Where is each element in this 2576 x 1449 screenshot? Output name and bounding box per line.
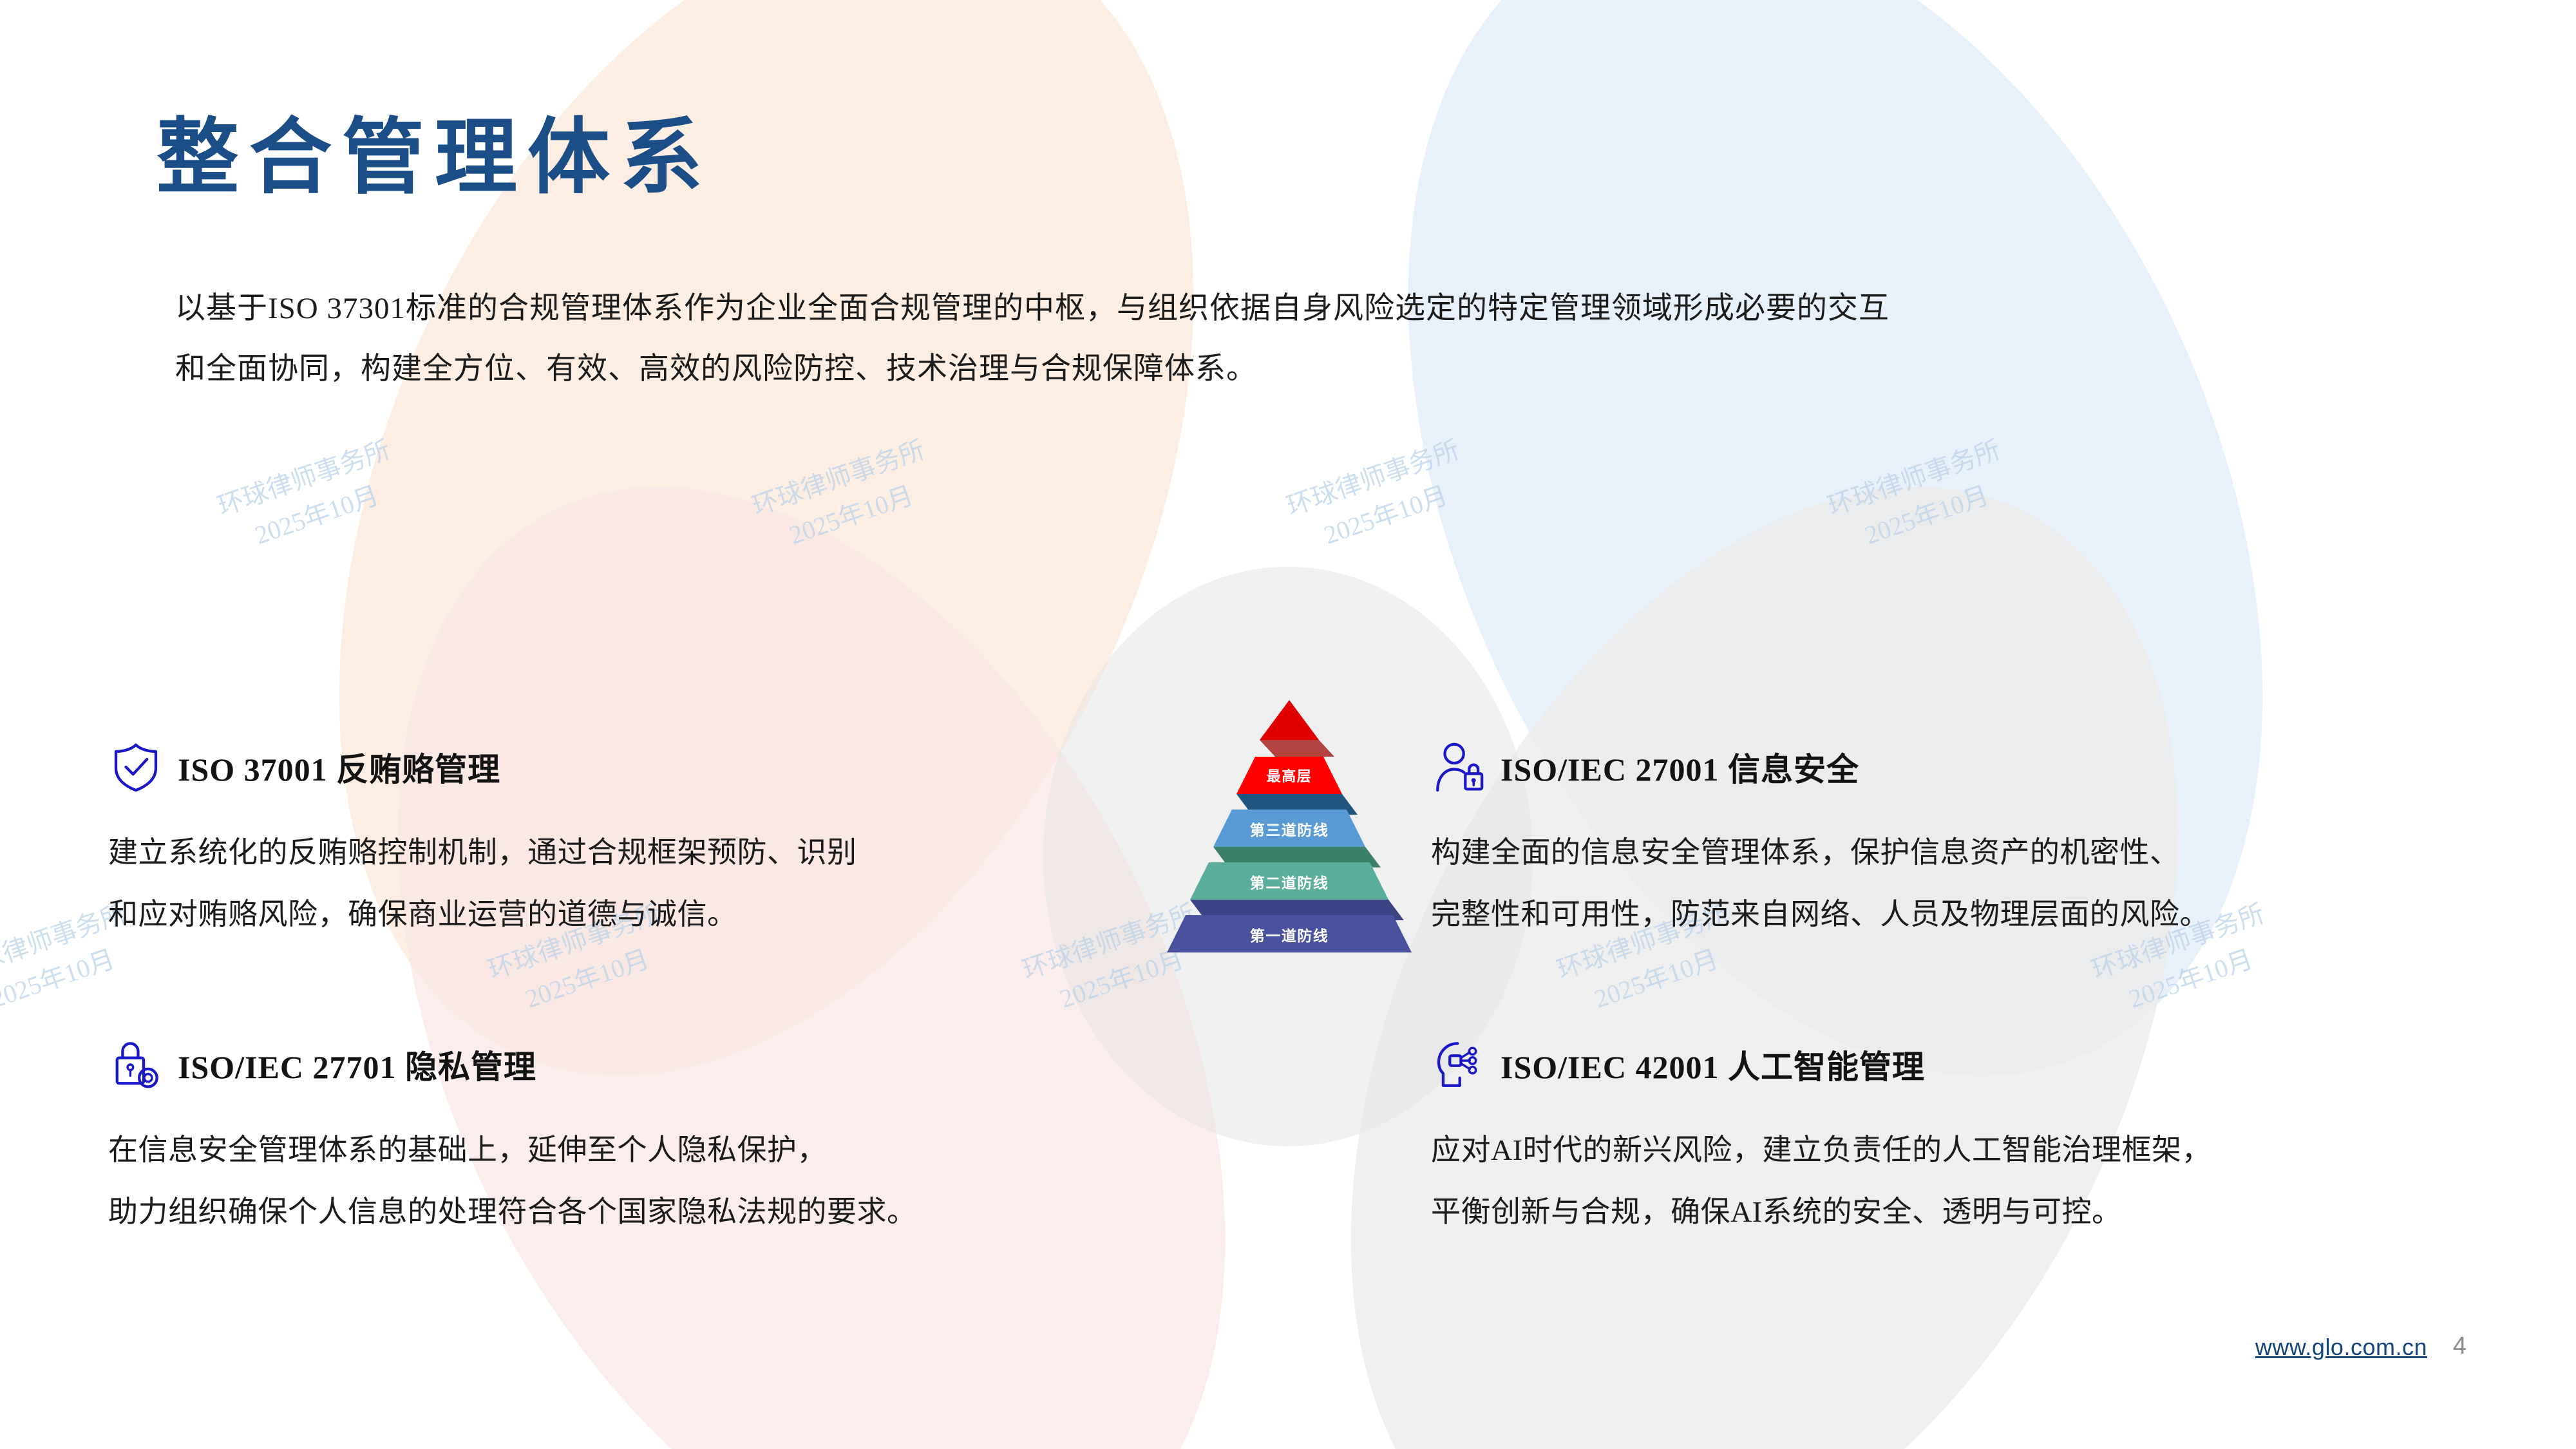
watermark-line2: 2025年10月 (760, 468, 943, 563)
watermark: 环球律师事务所2025年10月 (1823, 431, 2018, 563)
watermark-line1: 环球律师事务所 (214, 435, 393, 521)
watermark-line2: 2025年10月 (225, 468, 409, 563)
feature-card-iso-iec-27701: ISO/IEC 27701 隐私管理 在信息安全管理体系的基础上，延伸至个人隐私… (108, 1037, 1094, 1242)
card-body: 在信息安全管理体系的基础上，延伸至个人隐私保护， 助力组织确保个人信息的处理符合… (108, 1119, 1094, 1242)
card-body-line-1: 建立系统化的反贿赂控制机制，通过合规框架预防、识别 (108, 822, 1094, 884)
card-body: 构建全面的信息安全管理体系，保护信息资产的机密性、 完整性和可用性，防范来自网络… (1431, 822, 2461, 945)
card-body-line-1: 在信息安全管理体系的基础上，延伸至个人隐私保护， (108, 1119, 1094, 1181)
lock-eye-icon (108, 1037, 164, 1092)
watermark-line1: 环球律师事务所 (748, 435, 928, 521)
shield-check-icon (108, 739, 164, 795)
lede-line-1: 以基于ISO 37301标准的合规管理体系作为企业全面合规管理的中枢，与组织依据… (175, 278, 2197, 339)
card-title: ISO/IEC 27001 信息安全 (1501, 744, 1859, 790)
watermark: 环球律师事务所2025年10月 (1282, 431, 1477, 563)
pyramid-layer-label-3: 第二道防线 (1250, 875, 1329, 891)
lede-paragraph: 以基于ISO 37301标准的合规管理体系作为企业全面合规管理的中枢，与组织依据… (175, 278, 2197, 399)
card-header: ISO/IEC 42001 人工智能管理 (1431, 1037, 2461, 1092)
card-body-line-2: 和应对贿赂风险，确保商业运营的道德与诚信。 (108, 884, 1094, 945)
card-header: ISO/IEC 27001 信息安全 (1431, 739, 2461, 795)
feature-card-iso-iec-42001: ISO/IEC 42001 人工智能管理 应对AI时代的新兴风险，建立负责任的人… (1431, 1037, 2461, 1242)
pyramid-svg: 最高层 第三道防线 第二道防线 第一道防线 (1122, 699, 1457, 976)
card-title: ISO/IEC 42001 人工智能管理 (1501, 1041, 1925, 1088)
decorative-ellipse-blue (1240, 0, 2432, 1209)
watermark-line2: 2025年10月 (1565, 931, 1748, 1027)
pyramid-layer-label-2: 第三道防线 (1250, 822, 1329, 838)
pyramid-apex-shadow (1260, 740, 1334, 757)
feature-card-iso-iec-27001: ISO/IEC 27001 信息安全 构建全面的信息安全管理体系，保护信息资产的… (1431, 739, 2461, 945)
watermark-line2: 2025年10月 (2099, 931, 2283, 1027)
slide-root: 环球律师事务所2025年10月 环球律师事务所2025年10月 环球律师事务所2… (0, 0, 2576, 1449)
feature-card-iso-37001: ISO 37001 反贿赂管理 建立系统化的反贿赂控制机制，通过合规框架预防、识… (108, 739, 1094, 945)
card-title: ISO/IEC 27701 隐私管理 (178, 1041, 536, 1088)
pyramid-apex (1260, 700, 1319, 740)
card-header: ISO 37001 反贿赂管理 (108, 739, 1094, 795)
card-body-line-2: 助力组织确保个人信息的处理符合各个国家隐私法规的要求。 (108, 1181, 1094, 1243)
page-title: 整合管理体系 (156, 115, 713, 202)
card-header: ISO/IEC 27701 隐私管理 (108, 1037, 1094, 1092)
three-lines-of-defense-pyramid: 最高层 第三道防线 第二道防线 第一道防线 (1122, 699, 1457, 976)
watermark-line2: 2025年10月 (1294, 468, 1478, 563)
watermark: 环球律师事务所2025年10月 (213, 431, 408, 563)
card-body-line-2: 完整性和可用性，防范来自网络、人员及物理层面的风险。 (1431, 884, 2461, 945)
pyramid-layer-label-1: 最高层 (1267, 768, 1312, 784)
watermark: 环球律师事务所2025年10月 (747, 431, 943, 563)
card-body-line-1: 构建全面的信息安全管理体系，保护信息资产的机密性、 (1431, 822, 2461, 884)
card-body: 应对AI时代的新兴风险，建立负责任的人工智能治理框架， 平衡创新与合规，确保AI… (1431, 1119, 2461, 1242)
pyramid-layer-label-4: 第一道防线 (1250, 927, 1329, 944)
watermark-line2: 2025年10月 (0, 931, 144, 1027)
footer-website-link[interactable]: www.glo.com.cn (2255, 1334, 2427, 1361)
watermark-line1: 环球律师事务所 (1824, 435, 2003, 521)
lede-line-2: 和全面协同，构建全方位、有效、高效的风险防控、技术治理与合规保障体系。 (175, 339, 2197, 399)
watermark-line1: 环球律师事务所 (1283, 435, 1463, 521)
ai-head-icon (1431, 1037, 1486, 1092)
card-body-line-1: 应对AI时代的新兴风险，建立负责任的人工智能治理框架， (1431, 1119, 2461, 1181)
card-body-line-2: 平衡创新与合规，确保AI系统的安全、透明与可控。 (1431, 1181, 2461, 1243)
watermark-line2: 2025年10月 (496, 931, 679, 1027)
card-title: ISO 37001 反贿赂管理 (178, 744, 500, 790)
watermark-line2: 2025年10月 (1835, 468, 2019, 563)
page-number: 4 (2453, 1332, 2467, 1360)
card-body: 建立系统化的反贿赂控制机制，通过合规框架预防、识别 和应对贿赂风险，确保商业运营… (108, 822, 1094, 945)
